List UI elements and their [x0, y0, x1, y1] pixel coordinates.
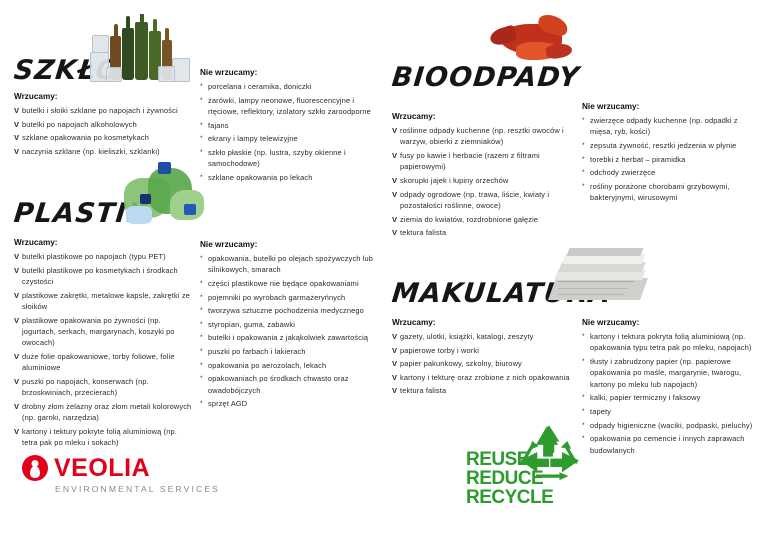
check-icon: V: [392, 214, 397, 225]
list-item: Vpuszki po napojach, konserwach (np. brz…: [14, 376, 192, 399]
recycling-symbol-icon: [516, 424, 582, 484]
makulatura-accept-heading: Wrzucamy:: [392, 318, 570, 327]
bullet-icon: *: [200, 253, 203, 264]
list-item: Vroślinne odpady kuchenne (np. resztki o…: [392, 125, 570, 148]
list-item: *odpady higieniczne (waciki, podpaski, p…: [582, 420, 762, 431]
list-item: *butelki i opakowania z jakąkolwiek zawa…: [200, 332, 380, 343]
check-icon: V: [392, 150, 397, 161]
check-icon: V: [14, 146, 19, 157]
list-item: Vszklane opakowania po kosmetykach: [14, 132, 189, 143]
check-icon: V: [392, 227, 397, 238]
bullet-icon: *: [582, 140, 585, 151]
bullet-icon: *: [200, 95, 203, 106]
makulatura-accept-list: Vgazety, ulotki, książki, katalogi, zesz…: [392, 331, 570, 397]
list-item: *części plastikowe nie będące opakowania…: [200, 278, 380, 289]
bullet-icon: *: [582, 154, 585, 165]
veolia-logo: VEOLIA ENVIRONMENTAL SERVICES: [22, 455, 220, 494]
veolia-logo-row: VEOLIA: [22, 455, 220, 481]
bullet-icon: *: [582, 406, 585, 417]
list-item: Vbutelki i słoiki szklane po napojach i …: [14, 105, 189, 116]
veolia-tagline: ENVIRONMENTAL SERVICES: [55, 484, 220, 494]
bioodpady-reject-heading: Nie wrzucamy:: [582, 102, 762, 111]
bullet-icon: *: [200, 360, 203, 371]
list-item: Vduże folie opakowaniowe, torby foliowe,…: [14, 351, 192, 374]
check-icon: V: [14, 251, 19, 262]
check-icon: V: [392, 358, 397, 369]
list-item: *kalki, papier termiczny i faksowy: [582, 392, 762, 403]
makulatura-accept-column: Wrzucamy: Vgazety, ulotki, książki, kata…: [392, 318, 570, 399]
list-item: *opakowania po cemencie i innych zaprawa…: [582, 433, 762, 456]
bullet-icon: *: [582, 115, 585, 126]
plastik-reject-column: Nie wrzucamy: *opakowania, butelki po ol…: [200, 240, 380, 412]
list-item: Vbutelki plastikowe po napojach (typu PE…: [14, 251, 192, 262]
plastic-bottles-photo: [118, 160, 218, 232]
bullet-icon: *: [200, 147, 203, 158]
check-icon: V: [14, 265, 19, 276]
list-item: *szklane opakowania po lekach: [200, 172, 380, 183]
list-item: Vpapier pakunkowy, szkolny, biurowy: [392, 358, 570, 369]
bullet-icon: *: [200, 278, 203, 289]
list-item: *opakowaniach po środkach chwasto oraz o…: [200, 373, 380, 396]
list-item: Vnaczynia szklane (np. kieliszki, szklan…: [14, 146, 189, 157]
check-icon: V: [14, 132, 19, 143]
check-icon: V: [392, 372, 397, 383]
szklo-reject-heading: Nie wrzucamy:: [200, 68, 380, 77]
list-item: Vkartony i tektury pokryte folią alumini…: [14, 426, 192, 449]
szklo-accept-heading: Wrzucamy:: [14, 92, 189, 101]
bullet-icon: *: [200, 133, 203, 144]
veolia-wordmark: VEOLIA: [54, 456, 150, 481]
rrr-line-recycle: RECYCLE: [466, 488, 553, 507]
bullet-icon: *: [200, 398, 203, 409]
list-item: Vbutelki po napojach alkoholowych: [14, 119, 189, 130]
bullet-icon: *: [582, 181, 585, 192]
bullet-icon: *: [200, 319, 203, 330]
newspapers-photo: [548, 248, 648, 310]
list-item: Vpapierowe torby i worki: [392, 345, 570, 356]
reuse-reduce-recycle-logo: REUSE REDUCE RECYCLE: [466, 424, 586, 514]
list-item: Vtektura falista: [392, 227, 570, 238]
list-item: Vdrobny złom żelazny oraz złom metali ko…: [14, 401, 192, 424]
list-item: *opakowania, butelki po olejach spożywcz…: [200, 253, 380, 276]
bullet-icon: *: [582, 392, 585, 403]
bullet-icon: *: [200, 332, 203, 343]
bioodpady-accept-heading: Wrzucamy:: [392, 112, 570, 121]
glass-bottles-photo: [88, 14, 193, 86]
list-item: *tworzywa sztuczne pochodzenia medyczneg…: [200, 305, 380, 316]
list-item: Vfusy po kawie i herbacie (razem z filtr…: [392, 150, 570, 173]
szklo-reject-list: *porcelana i ceramika, doniczki *żarówki…: [200, 81, 380, 183]
check-icon: V: [14, 315, 19, 326]
bioodpady-reject-column: Nie wrzucamy: *zwierzęce odpady kuchenne…: [582, 102, 762, 206]
check-icon: V: [392, 189, 397, 200]
list-item: Vziemia do kwiatów, rozdrobnione gałęzie: [392, 214, 570, 225]
list-item: Vodpady ogrodowe (np. trawa, liście, kwi…: [392, 189, 570, 212]
plastik-accept-list: Vbutelki plastikowe po napojach (typu PE…: [14, 251, 192, 449]
list-item: Vskorupki jajek i łupiny orzechów: [392, 175, 570, 186]
list-item: *torebki z herbat – piramidka: [582, 154, 762, 165]
check-icon: V: [392, 331, 397, 342]
list-item: *odchody zwierzęce: [582, 167, 762, 178]
bullet-icon: *: [200, 373, 203, 384]
szklo-accept-column: Wrzucamy: Vbutelki i słoiki szklane po n…: [14, 92, 189, 159]
szklo-accept-list: Vbutelki i słoiki szklane po napojach i …: [14, 105, 189, 157]
lobster-photo: [486, 10, 578, 72]
plastik-accept-column: Wrzucamy: Vbutelki plastikowe po napojac…: [14, 238, 192, 451]
list-item: *tapety: [582, 406, 762, 417]
list-item: Vbutelki plastikowe po kosmetykach i śro…: [14, 265, 192, 288]
list-item: *żarówki, lampy neonowe, fluorescencyjne…: [200, 95, 380, 118]
list-item: *rośliny porażone chorobami grzybowymi, …: [582, 181, 762, 204]
bullet-icon: *: [582, 356, 585, 367]
list-item: *kartony i tektura pokryta folią alumini…: [582, 331, 762, 354]
bioodpady-accept-column: Wrzucamy: Vroślinne odpady kuchenne (np.…: [392, 112, 570, 241]
list-item: Vgazety, ulotki, książki, katalogi, zesz…: [392, 331, 570, 342]
bullet-icon: *: [200, 305, 203, 316]
bullet-icon: *: [200, 120, 203, 131]
list-item: *puszki po farbach i lakierach: [200, 346, 380, 357]
bullet-icon: *: [200, 292, 203, 303]
makulatura-reject-column: Nie wrzucamy: *kartony i tektura pokryta…: [582, 318, 762, 458]
list-item: *sprzęt AGD: [200, 398, 380, 409]
leaflet-page: SZKŁO Wrzucamy: Vbutelki i słoiki szklan…: [0, 0, 768, 543]
list-item: *opakowania po aerozolach, lekach: [200, 360, 380, 371]
list-item: *ekrany i lampy telewizyjne: [200, 133, 380, 144]
bullet-icon: *: [200, 81, 203, 92]
list-item: Vkartony i tekturę oraz zrobione z nich …: [392, 372, 570, 383]
check-icon: V: [14, 426, 19, 437]
list-item: *zwierzęce odpady kuchenne (np. odpadki …: [582, 115, 762, 138]
check-icon: V: [392, 125, 397, 136]
check-icon: V: [392, 345, 397, 356]
check-icon: V: [14, 105, 19, 116]
list-item: *szkło płaskie (np. lustra, szyby okienn…: [200, 147, 380, 170]
bullet-icon: *: [582, 331, 585, 342]
list-item: *tłusty i zabrudzony papier (np. papiero…: [582, 356, 762, 390]
makulatura-reject-heading: Nie wrzucamy:: [582, 318, 762, 327]
list-item: *styropian, guma, zabawki: [200, 319, 380, 330]
bullet-icon: *: [200, 346, 203, 357]
check-icon: V: [14, 290, 19, 301]
plastik-reject-list: *opakowania, butelki po olejach spożywcz…: [200, 253, 380, 410]
bioodpady-accept-list: Vroślinne odpady kuchenne (np. resztki o…: [392, 125, 570, 239]
list-item: Vtektura falista: [392, 385, 570, 396]
plastik-reject-heading: Nie wrzucamy:: [200, 240, 380, 249]
bullet-icon: *: [582, 167, 585, 178]
szklo-reject-column: Nie wrzucamy: *porcelana i ceramika, don…: [200, 68, 380, 185]
list-item: *porcelana i ceramika, doniczki: [200, 81, 380, 92]
bioodpady-reject-list: *zwierzęce odpady kuchenne (np. odpadki …: [582, 115, 762, 204]
list-item: *zepsuta żywność, resztki jedzenia w pły…: [582, 140, 762, 151]
check-icon: V: [14, 351, 19, 362]
veolia-mark-icon: [22, 455, 48, 481]
check-icon: V: [14, 119, 19, 130]
check-icon: V: [14, 401, 19, 412]
check-icon: V: [14, 376, 19, 387]
list-item: *fajans: [200, 120, 380, 131]
makulatura-reject-list: *kartony i tektura pokryta folią alumini…: [582, 331, 762, 456]
check-icon: V: [392, 385, 397, 396]
list-item: *pojemniki po wyrobach garmażeryńnych: [200, 292, 380, 303]
list-item: Vplastikowe zakrętki, metalowe kapsle, z…: [14, 290, 192, 313]
check-icon: V: [392, 175, 397, 186]
plastik-accept-heading: Wrzucamy:: [14, 238, 192, 247]
list-item: Vplastikowe opakowania po żywności (np. …: [14, 315, 192, 349]
